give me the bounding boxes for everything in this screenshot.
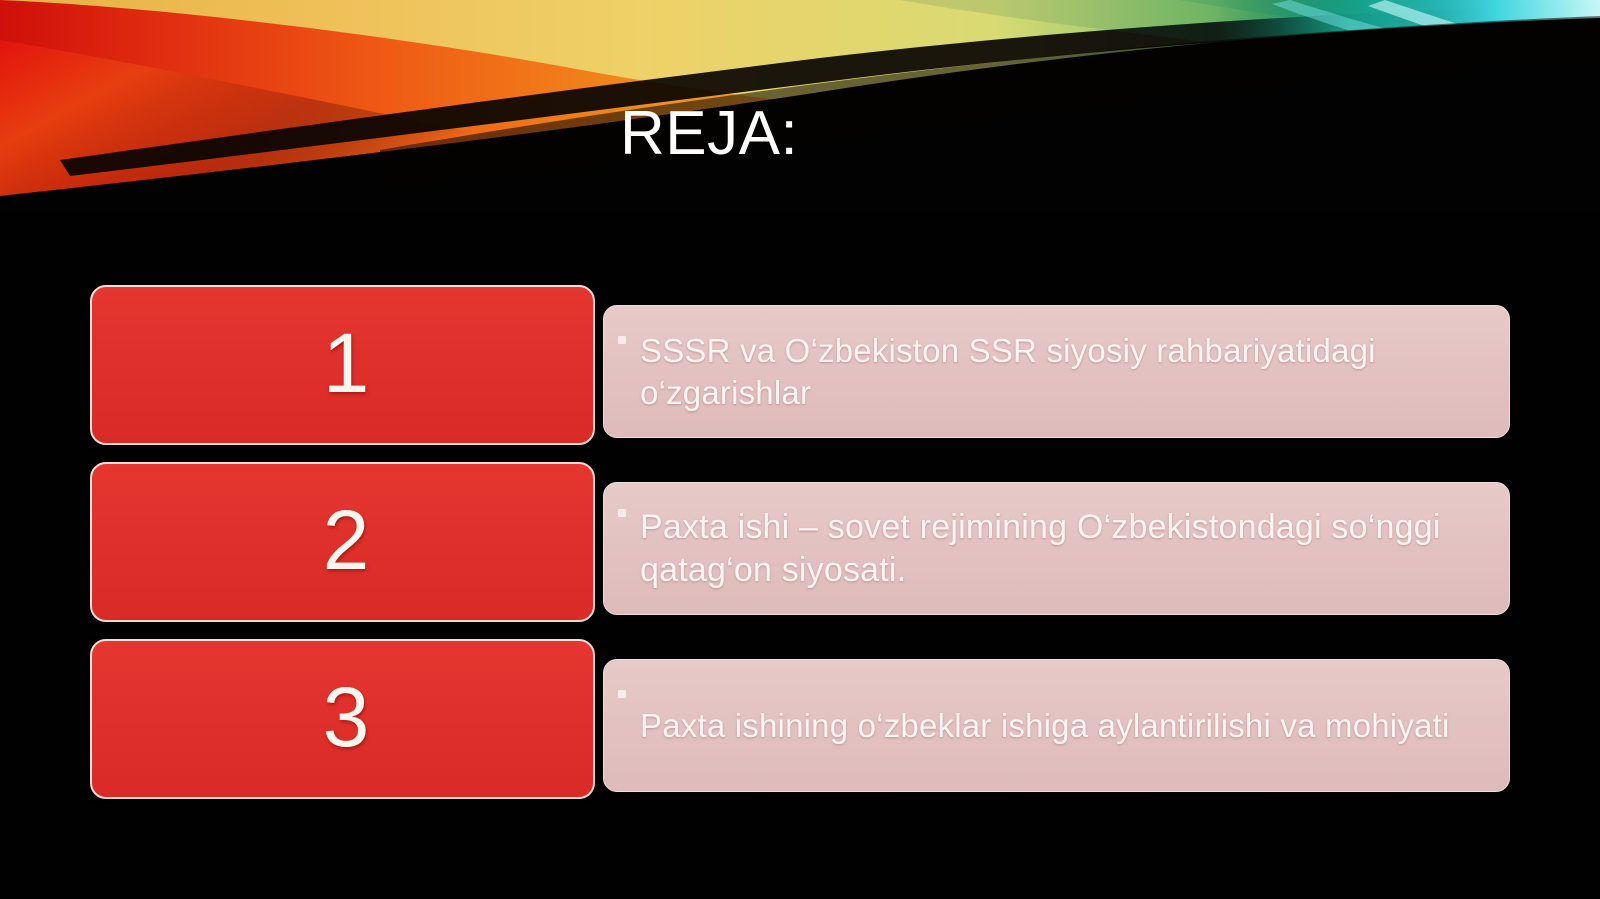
row-text: Paxta ishining o‘zbeklar ishiga aylantir… [640, 705, 1449, 747]
row-text: Paxta ishi – sovet rejimining O‘zbekisto… [640, 506, 1491, 592]
bullet-icon [618, 336, 626, 344]
number-badge-1[interactable]: 1 [90, 285, 595, 445]
row-text: SSSR va O‘zbekiston SSR siyosiy rahbariy… [640, 330, 1491, 413]
text-panel-2[interactable]: Paxta ishi – sovet rejimining O‘zbekisto… [603, 482, 1510, 615]
row-number: 3 [323, 675, 371, 759]
number-badge-3[interactable]: 3 [90, 639, 595, 799]
bullet-icon [618, 509, 626, 517]
row-number: 1 [323, 321, 371, 405]
text-panel-1[interactable]: SSSR va O‘zbekiston SSR siyosiy rahbariy… [603, 305, 1510, 438]
row-number: 2 [323, 498, 371, 582]
number-badge-2[interactable]: 2 [90, 462, 595, 622]
bullet-icon [618, 690, 626, 698]
text-panel-3[interactable]: Paxta ishining o‘zbeklar ishiga aylantir… [603, 659, 1510, 792]
content-rows: 1 SSSR va O‘zbekiston SSR siyosiy rahbar… [0, 0, 1600, 899]
presentation-slide: REJA: 1 SSSR va O‘zbekiston SSR siyosiy … [0, 0, 1600, 899]
